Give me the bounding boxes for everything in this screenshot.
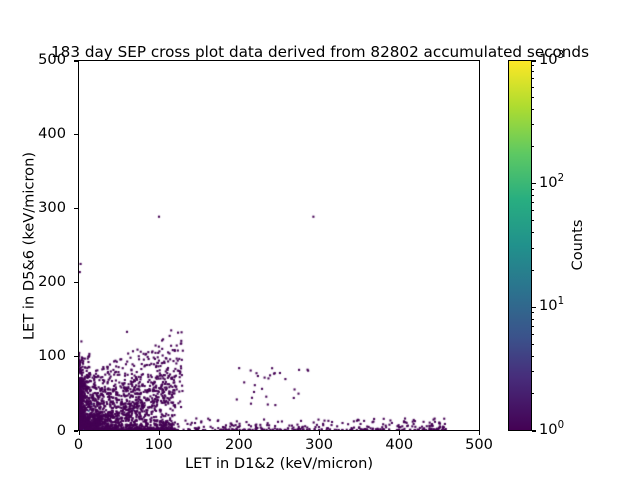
colorbar-minor-tick-600 bbox=[532, 87, 534, 88]
colorbar-tick-label-1000-exponent: 3 bbox=[558, 50, 564, 61]
colorbar-minor-tick-4 bbox=[532, 356, 534, 357]
figure-canvas: 183 day SEP cross plot data derived from… bbox=[0, 0, 640, 480]
x-tick-mark-500 bbox=[479, 431, 480, 435]
colorbar-tick-mark-100 bbox=[532, 183, 536, 184]
y-tick-label-100: 100 bbox=[38, 349, 66, 364]
colorbar-minor-tick-500 bbox=[532, 97, 534, 98]
colorbar-tick-label-10-exponent: 1 bbox=[558, 296, 564, 307]
colorbar-minor-tick-50 bbox=[532, 220, 534, 221]
x-tick-mark-400 bbox=[399, 431, 400, 435]
colorbar-minor-tick-200 bbox=[532, 146, 534, 147]
colorbar-minor-tick-70 bbox=[532, 202, 534, 203]
y-tick-label-300: 300 bbox=[38, 201, 66, 216]
y-axis-label: LET in D5&6 (keV/micron) bbox=[20, 61, 40, 432]
colorbar-minor-tick-30 bbox=[532, 248, 534, 249]
colorbar-minor-tick-5 bbox=[532, 344, 534, 345]
y-tick-label-500: 500 bbox=[38, 53, 66, 68]
colorbar-minor-tick-9 bbox=[532, 312, 534, 313]
colorbar-minor-tick-40 bbox=[532, 232, 534, 233]
y-tick-mark-400 bbox=[74, 134, 78, 135]
colorbar-minor-tick-900 bbox=[532, 65, 534, 66]
colorbar-minor-tick-800 bbox=[532, 71, 534, 72]
colorbar-minor-tick-20 bbox=[532, 270, 534, 271]
colorbar-minor-tick-80 bbox=[532, 195, 534, 196]
colorbar-minor-tick-7 bbox=[532, 326, 534, 327]
x-tick-label-400: 400 bbox=[385, 438, 413, 453]
colorbar-tick-mark-1 bbox=[532, 430, 536, 431]
x-tick-label-100: 100 bbox=[145, 438, 173, 453]
colorbar-tick-label-100: 102 bbox=[539, 176, 564, 191]
y-tick-mark-100 bbox=[74, 356, 78, 357]
plot-axes bbox=[78, 60, 480, 431]
x-tick-mark-200 bbox=[239, 431, 240, 435]
colorbar-tick-mark-10 bbox=[532, 307, 536, 308]
x-tick-label-300: 300 bbox=[305, 438, 333, 453]
scatter-data-layer bbox=[79, 61, 479, 430]
x-tick-label-500: 500 bbox=[465, 438, 493, 453]
colorbar-minor-tick-90 bbox=[532, 189, 534, 190]
x-tick-label-200: 200 bbox=[225, 438, 253, 453]
x-tick-mark-100 bbox=[159, 431, 160, 435]
x-axis-label: LET in D1&2 (keV/micron) bbox=[78, 456, 480, 471]
colorbar-minor-tick-400 bbox=[532, 109, 534, 110]
colorbar-tick-label-100-mantissa: 10 bbox=[539, 174, 558, 191]
colorbar-tick-label-1: 100 bbox=[539, 423, 564, 438]
colorbar-tick-label-10-mantissa: 10 bbox=[539, 297, 558, 314]
colorbar-minor-tick-3 bbox=[532, 371, 534, 372]
x-tick-mark-0 bbox=[79, 431, 80, 435]
y-tick-label-0: 0 bbox=[57, 424, 66, 439]
colorbar-tick-label-1000: 103 bbox=[539, 53, 564, 68]
y-tick-mark-0 bbox=[74, 430, 78, 431]
x-tick-label-0: 0 bbox=[74, 438, 83, 453]
y-tick-mark-200 bbox=[74, 282, 78, 283]
colorbar-gradient bbox=[508, 60, 532, 431]
colorbar-minor-tick-6 bbox=[532, 334, 534, 335]
y-tick-label-400: 400 bbox=[38, 127, 66, 142]
colorbar-tick-mark-1000 bbox=[532, 60, 536, 61]
colorbar-minor-tick-8 bbox=[532, 319, 534, 320]
x-tick-mark-300 bbox=[319, 431, 320, 435]
colorbar-minor-tick-2 bbox=[532, 393, 534, 394]
y-tick-mark-300 bbox=[74, 208, 78, 209]
colorbar-minor-tick-700 bbox=[532, 78, 534, 79]
colorbar-tick-label-1-mantissa: 10 bbox=[539, 421, 558, 438]
colorbar-tick-label-10: 101 bbox=[539, 299, 564, 314]
colorbar-minor-tick-300 bbox=[532, 124, 534, 125]
y-tick-mark-500 bbox=[74, 60, 78, 61]
y-tick-label-200: 200 bbox=[38, 275, 66, 290]
colorbar-tick-label-1-exponent: 0 bbox=[558, 420, 564, 431]
colorbar-minor-tick-60 bbox=[532, 210, 534, 211]
colorbar-tick-label-100-exponent: 2 bbox=[558, 173, 564, 184]
colorbar-label: Counts bbox=[569, 145, 587, 345]
colorbar-tick-label-1000-mantissa: 10 bbox=[539, 51, 558, 68]
